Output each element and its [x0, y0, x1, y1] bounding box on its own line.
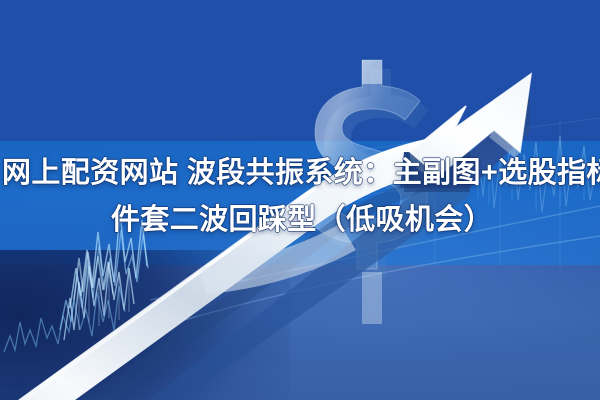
headline-line-1: 网上配资网站 波段共振系统：主副图+选股指标三	[0, 150, 600, 197]
headline-line-2: 件套二波回踩型（低吸机会）	[0, 197, 600, 244]
headline: 网上配资网站 波段共振系统：主副图+选股指标三 件套二波回踩型（低吸机会）	[0, 150, 600, 244]
background-vignette-left	[0, 250, 290, 400]
background-band-top	[0, 0, 600, 141]
promo-banner: 网上配资网站 波段共振系统：主副图+选股指标三 件套二波回踩型（低吸机会）	[0, 0, 600, 400]
